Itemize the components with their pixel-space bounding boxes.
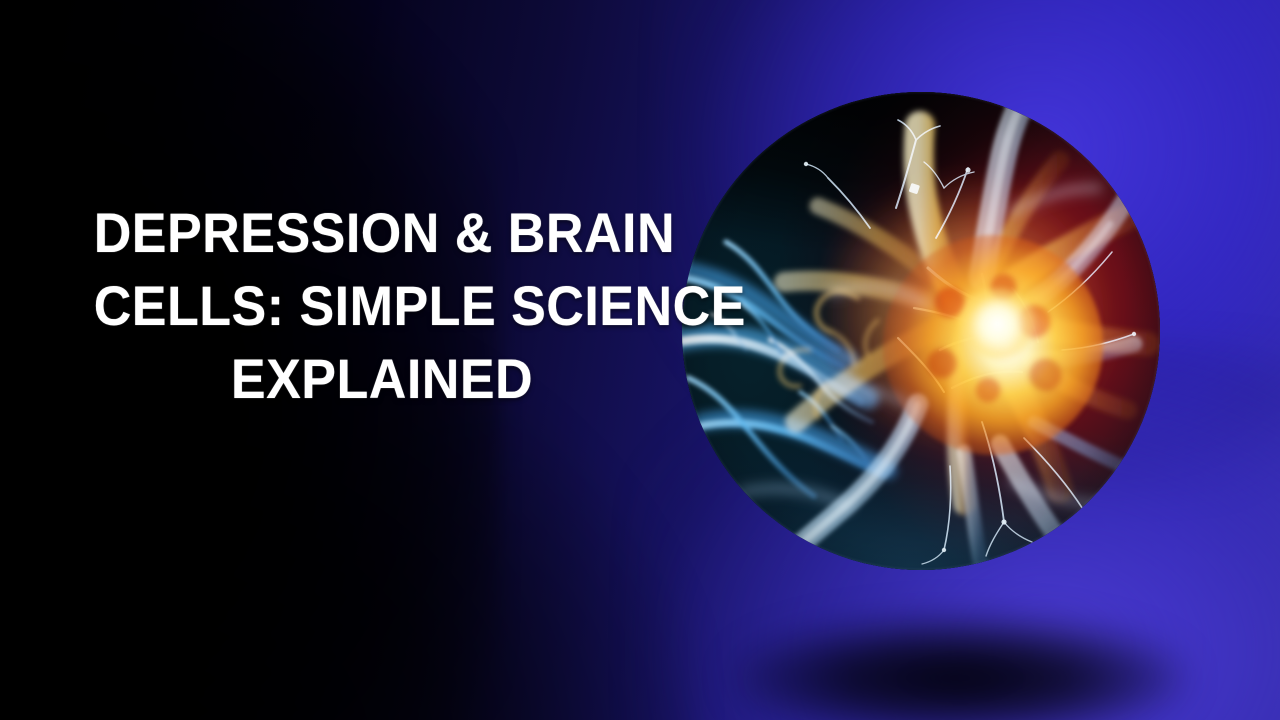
thumbnail-canvas: DEPRESSION & BRAIN CELLS: SIMPLE SCIENCE… [0,0,1280,720]
title-line-1: DEPRESSION & BRAIN [94,196,671,269]
page-title: DEPRESSION & BRAIN CELLS: SIMPLE SCIENCE… [72,196,692,415]
title-line-2: CELLS: SIMPLE SCIENCE [94,269,671,342]
title-line-3: EXPLAINED [94,342,671,415]
neuron-circle-image [682,92,1160,570]
neuron-circle-rim [682,92,1160,570]
